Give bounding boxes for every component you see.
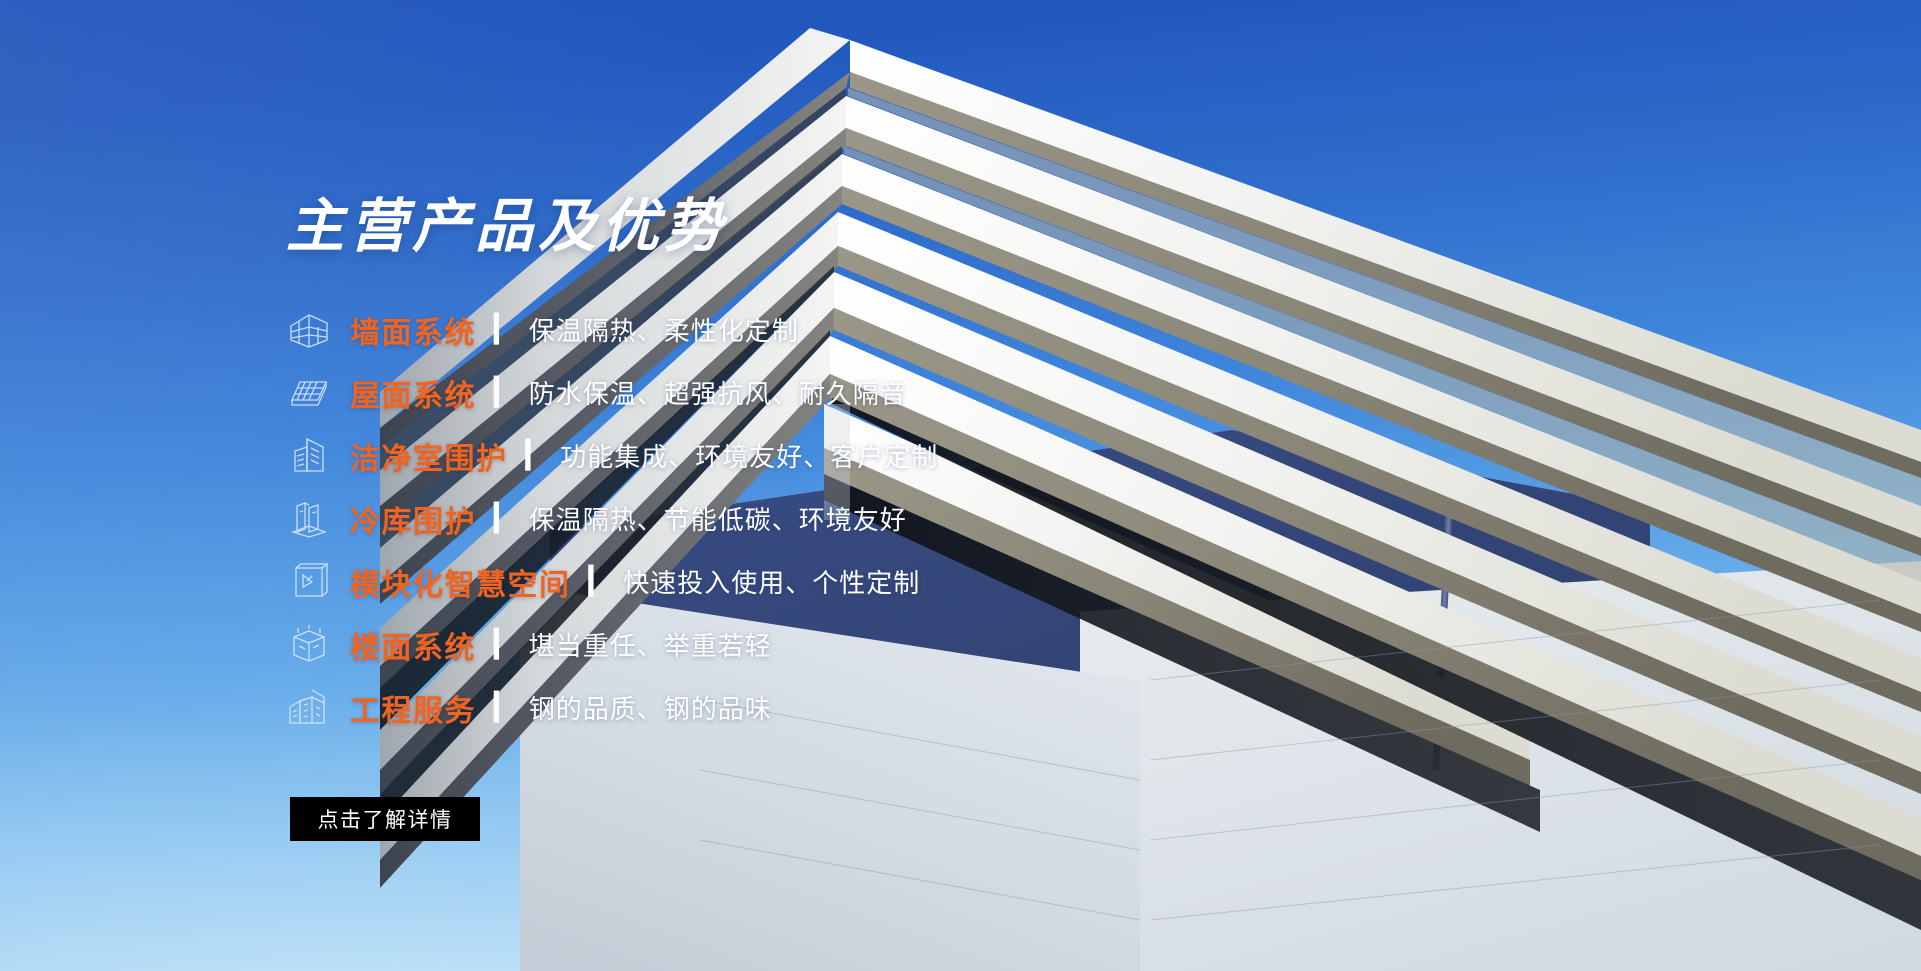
product-desc: 保温隔热、节能低碳、环境友好 bbox=[529, 500, 907, 537]
separator-bar: ▎ bbox=[494, 379, 515, 406]
product-title: 楼面系统 bbox=[350, 623, 476, 667]
product-title: 洁净室围护 bbox=[350, 434, 508, 478]
list-item[interactable]: 工程服务 ▎ 钢的品质、钢的品味 bbox=[286, 676, 1186, 739]
list-item[interactable]: 屋面系统 ▎ 防水保温、超强抗风、耐久隔音 bbox=[286, 361, 1186, 424]
page-title: 主营产品及优势 bbox=[286, 198, 727, 256]
product-title: 墙面系统 bbox=[350, 308, 476, 352]
product-desc: 快速投入使用、个性定制 bbox=[623, 563, 920, 600]
product-list: 墙面系统 ▎ 保温隔热、柔性化定制 屋面系统 ▎ 防水保温、超强抗风、耐久隔音 bbox=[286, 298, 1186, 739]
product-title: 工程服务 bbox=[350, 686, 476, 730]
list-item[interactable]: 墙面系统 ▎ 保温隔热、柔性化定制 bbox=[286, 298, 1186, 361]
modular-cube-icon bbox=[286, 559, 332, 605]
separator-bar: ▎ bbox=[526, 442, 547, 469]
separator-bar: ▎ bbox=[494, 694, 515, 721]
product-title: 模块化智慧空间 bbox=[350, 560, 571, 604]
list-item[interactable]: 洁净室围护 ▎ 功能集成、环境友好、客户定制 bbox=[286, 424, 1186, 487]
learn-more-button[interactable]: 点击了解详情 bbox=[290, 797, 480, 841]
separator-bar: ▎ bbox=[589, 568, 610, 595]
coldstorage-icon bbox=[286, 496, 332, 542]
list-item[interactable]: 楼面系统 ▎ 堪当重任、举重若轻 bbox=[286, 613, 1186, 676]
hero-banner: 主营产品及优势 墙面系统 ▎ 保温隔热、柔性化定制 bbox=[0, 0, 1921, 971]
product-desc: 防水保温、超强抗风、耐久隔音 bbox=[529, 374, 907, 411]
cleanroom-icon bbox=[286, 433, 332, 479]
product-title: 屋面系统 bbox=[350, 371, 476, 415]
product-desc: 钢的品质、钢的品味 bbox=[529, 689, 772, 726]
separator-bar: ▎ bbox=[494, 505, 515, 532]
product-desc: 功能集成、环境友好、客户定制 bbox=[560, 437, 938, 474]
floor-panel-icon bbox=[286, 622, 332, 668]
list-item[interactable]: 冷库围护 ▎ 保温隔热、节能低碳、环境友好 bbox=[286, 487, 1186, 550]
separator-bar: ▎ bbox=[494, 316, 515, 343]
product-desc: 保温隔热、柔性化定制 bbox=[529, 311, 799, 348]
list-item[interactable]: 模块化智慧空间 ▎ 快速投入使用、个性定制 bbox=[286, 550, 1186, 613]
product-desc: 堪当重任、举重若轻 bbox=[529, 626, 772, 663]
separator-bar: ▎ bbox=[494, 631, 515, 658]
wall-panel-icon bbox=[286, 307, 332, 353]
product-title: 冷库围护 bbox=[350, 497, 476, 541]
roof-panel-icon bbox=[286, 370, 332, 416]
engineering-icon bbox=[286, 685, 332, 731]
hero-content: 主营产品及优势 墙面系统 ▎ 保温隔热、柔性化定制 bbox=[0, 0, 1921, 971]
